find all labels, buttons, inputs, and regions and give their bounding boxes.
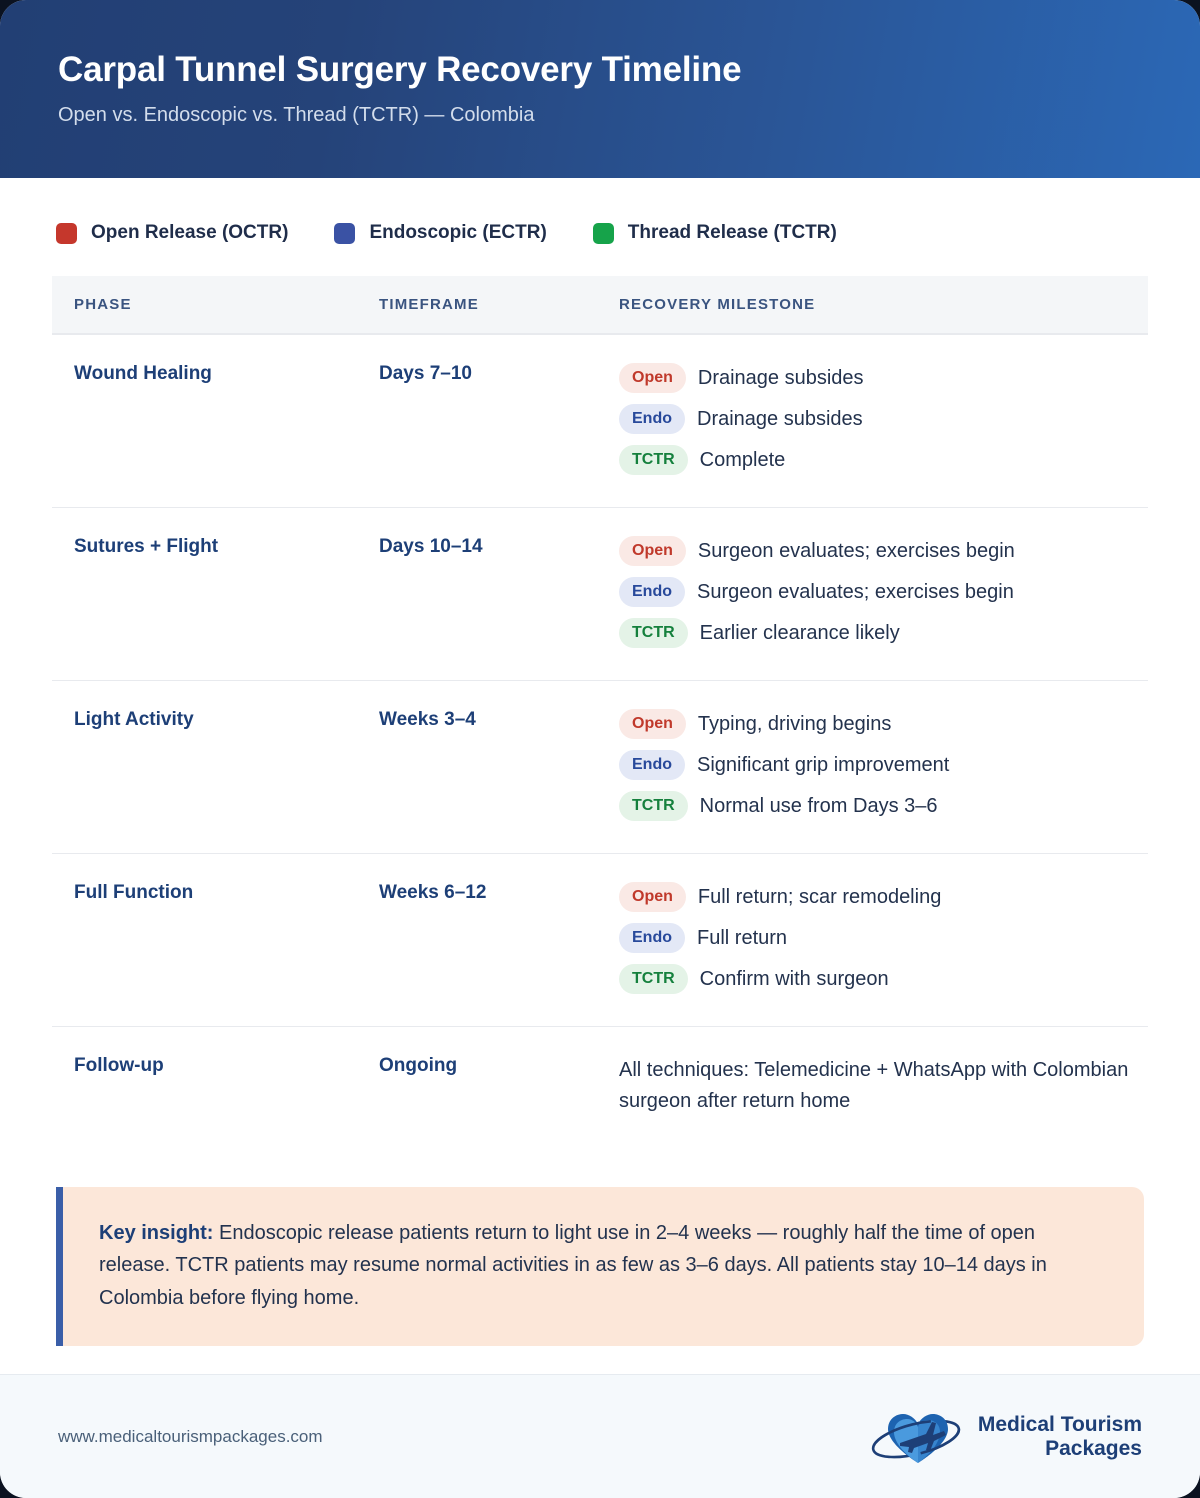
milestone-item: TCTR Confirm with surgeon	[619, 964, 1148, 994]
brand-line-1: Medical Tourism	[978, 1413, 1142, 1437]
milestone-item: Open Typing, driving begins	[619, 709, 1148, 739]
milestone-list: Open Full return; scar remodeling Endo F…	[619, 882, 1148, 994]
footer-website-url[interactable]: www.medicaltourismpackages.com	[58, 1427, 323, 1447]
legend-item-tctr: Thread Release (TCTR)	[593, 222, 837, 244]
key-insight-lead: Key insight:	[99, 1222, 213, 1244]
phase-label: Sutures + Flight	[74, 536, 379, 559]
table-body: Wound Healing Days 7–10 Open Drainage su…	[52, 334, 1148, 1149]
milestone-item: TCTR Complete	[619, 445, 1148, 475]
milestone-text: Full return	[697, 926, 787, 951]
page-footer: www.medicaltourismpackages.com Medical T…	[0, 1374, 1200, 1498]
milestone-text: Drainage subsides	[697, 407, 863, 432]
brand-line-2: Packages	[1045, 1437, 1142, 1461]
legend: Open Release (OCTR) Endoscopic (ECTR) Th…	[52, 178, 1148, 276]
table-row: Full Function Weeks 6–12 Open Full retur…	[52, 854, 1148, 1027]
milestone-text: Confirm with surgeon	[700, 967, 889, 992]
badge-open: Open	[619, 536, 686, 566]
milestone-text: Typing, driving begins	[698, 712, 891, 737]
table-row: Wound Healing Days 7–10 Open Drainage su…	[52, 334, 1148, 508]
page-header: Carpal Tunnel Surgery Recovery Timeline …	[0, 0, 1200, 178]
timeframe-label: Weeks 3–4	[379, 709, 619, 732]
table-row: Follow-up Ongoing All techniques: Teleme…	[52, 1027, 1148, 1150]
legend-item-open: Open Release (OCTR)	[56, 222, 288, 244]
milestone-text: Complete	[700, 448, 786, 473]
legend-swatch-tctr-icon	[593, 223, 614, 244]
phase-label: Light Activity	[74, 709, 379, 732]
milestone-note: All techniques: Telemedicine + WhatsApp …	[619, 1055, 1139, 1117]
badge-tctr: TCTR	[619, 791, 688, 821]
phase-label: Full Function	[74, 882, 379, 905]
brand-wordmark: Medical Tourism Packages	[978, 1413, 1142, 1460]
table-header-row: PHASE TIMEFRAME RECOVERY MILESTONE	[52, 276, 1148, 334]
legend-item-endo: Endoscopic (ECTR)	[334, 222, 546, 244]
column-header-milestone: RECOVERY MILESTONE	[619, 276, 1148, 334]
badge-endo: Endo	[619, 750, 685, 780]
milestone-item: Endo Significant grip improvement	[619, 750, 1148, 780]
milestone-item: Endo Drainage subsides	[619, 404, 1148, 434]
badge-tctr: TCTR	[619, 964, 688, 994]
table-row: Sutures + Flight Days 10–14 Open Surgeon…	[52, 508, 1148, 681]
legend-label-endo: Endoscopic (ECTR)	[369, 222, 546, 244]
milestone-item: Endo Surgeon evaluates; exercises begin	[619, 577, 1148, 607]
timeframe-label: Weeks 6–12	[379, 882, 619, 905]
milestone-item: Open Full return; scar remodeling	[619, 882, 1148, 912]
infographic-card: Carpal Tunnel Surgery Recovery Timeline …	[0, 0, 1200, 1498]
key-insight-paragraph: Key insight: Endoscopic release patients…	[99, 1217, 1108, 1314]
badge-endo: Endo	[619, 923, 685, 953]
brand-logo: Medical Tourism Packages	[870, 1405, 1142, 1469]
legend-swatch-open-icon	[56, 223, 77, 244]
badge-open: Open	[619, 363, 686, 393]
milestone-item: TCTR Normal use from Days 3–6	[619, 791, 1148, 821]
key-insight-callout: Key insight: Endoscopic release patients…	[56, 1187, 1144, 1346]
badge-open: Open	[619, 882, 686, 912]
page-title: Carpal Tunnel Surgery Recovery Timeline	[58, 51, 1200, 90]
badge-tctr: TCTR	[619, 445, 688, 475]
content-body: Open Release (OCTR) Endoscopic (ECTR) Th…	[0, 178, 1200, 1374]
badge-tctr: TCTR	[619, 618, 688, 648]
page-subtitle: Open vs. Endoscopic vs. Thread (TCTR) — …	[58, 104, 1200, 127]
badge-endo: Endo	[619, 577, 685, 607]
column-header-timeframe: TIMEFRAME	[379, 276, 619, 334]
badge-endo: Endo	[619, 404, 685, 434]
phase-label: Follow-up	[74, 1055, 379, 1078]
milestone-text: Normal use from Days 3–6	[700, 794, 938, 819]
key-insight-text: Endoscopic release patients return to li…	[99, 1222, 1047, 1309]
legend-label-tctr: Thread Release (TCTR)	[628, 222, 837, 244]
phase-label: Wound Healing	[74, 363, 379, 386]
milestone-text: Earlier clearance likely	[700, 621, 900, 646]
legend-label-open: Open Release (OCTR)	[91, 222, 288, 244]
column-header-phase: PHASE	[52, 276, 379, 334]
table-row: Light Activity Weeks 3–4 Open Typing, dr…	[52, 681, 1148, 854]
milestone-item: TCTR Earlier clearance likely	[619, 618, 1148, 648]
milestone-item: Open Surgeon evaluates; exercises begin	[619, 536, 1148, 566]
milestone-item: Open Drainage subsides	[619, 363, 1148, 393]
legend-swatch-endo-icon	[334, 223, 355, 244]
badge-open: Open	[619, 709, 686, 739]
milestone-item: Endo Full return	[619, 923, 1148, 953]
milestone-text: Drainage subsides	[698, 366, 864, 391]
heart-airplane-orbit-logo-icon	[870, 1405, 966, 1469]
timeframe-label: Days 7–10	[379, 363, 619, 386]
recovery-timeline-table: PHASE TIMEFRAME RECOVERY MILESTONE Wound…	[52, 276, 1148, 1149]
milestone-list: Open Drainage subsides Endo Drainage sub…	[619, 363, 1148, 475]
milestone-list: Open Surgeon evaluates; exercises begin …	[619, 536, 1148, 648]
milestone-text: Surgeon evaluates; exercises begin	[698, 539, 1015, 564]
milestone-text: Surgeon evaluates; exercises begin	[697, 580, 1014, 605]
milestone-text: Full return; scar remodeling	[698, 885, 941, 910]
milestone-text: Significant grip improvement	[697, 753, 949, 778]
table-header: PHASE TIMEFRAME RECOVERY MILESTONE	[52, 276, 1148, 334]
milestone-list: Open Typing, driving begins Endo Signifi…	[619, 709, 1148, 821]
timeframe-label: Days 10–14	[379, 536, 619, 559]
timeframe-label: Ongoing	[379, 1055, 619, 1078]
